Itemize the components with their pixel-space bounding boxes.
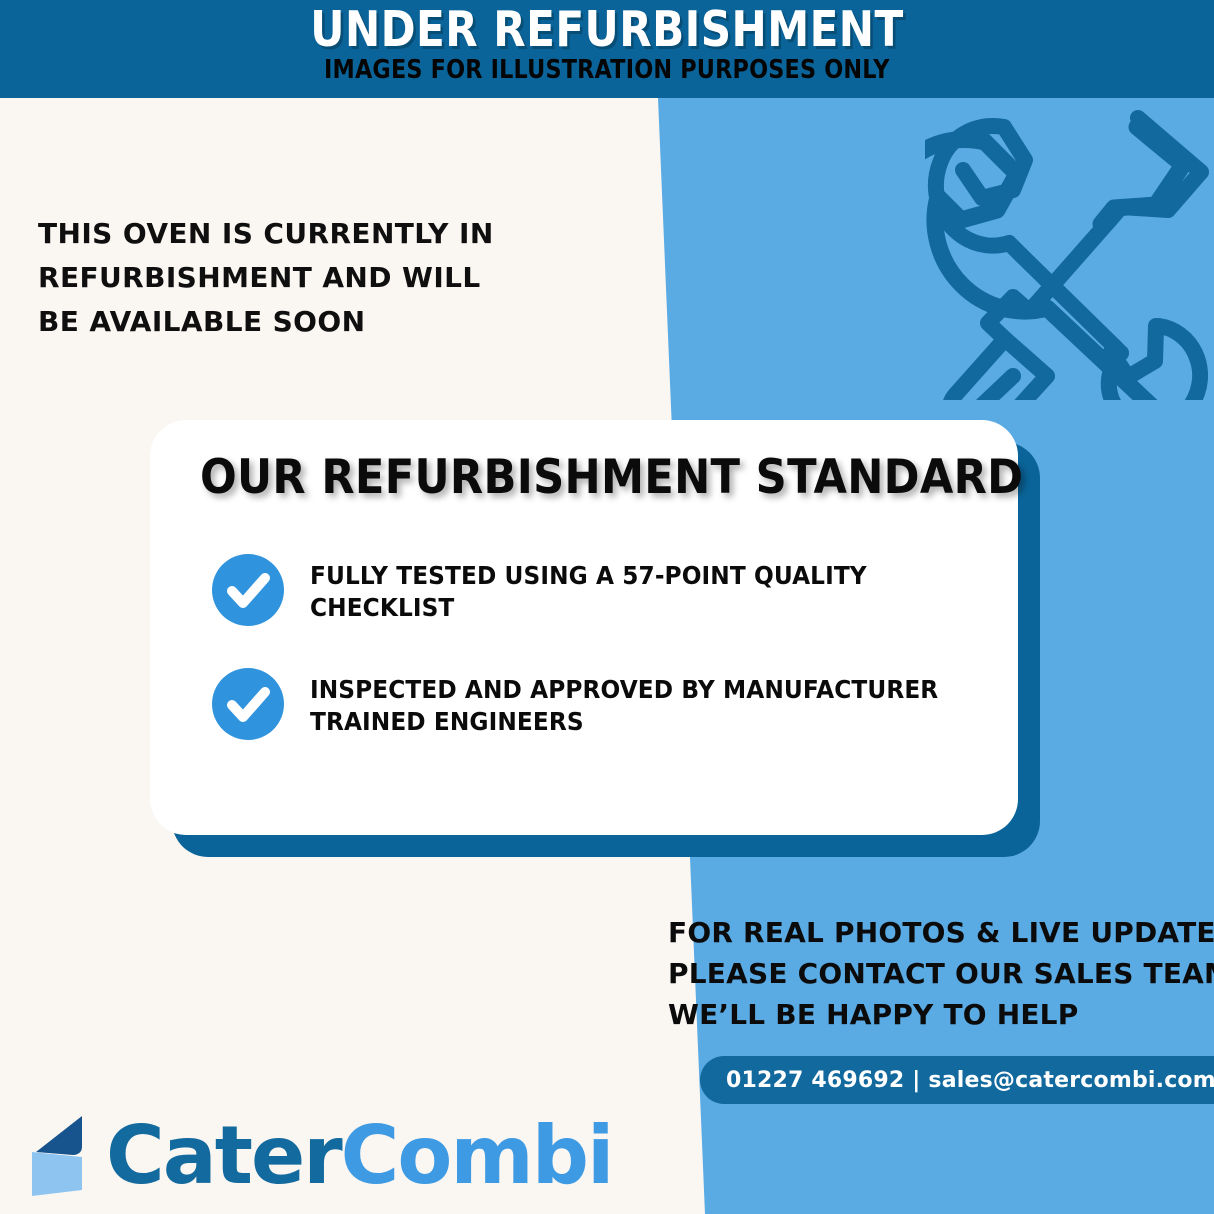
header-title: UNDER REFURBISHMENT — [310, 2, 903, 58]
list-item-line-2: CHECKLIST — [310, 592, 867, 624]
intro-message: THIS OVEN IS CURRENTLY IN REFURBISHMENT … — [38, 212, 508, 344]
header-banner: UNDER REFURBISHMENT IMAGES FOR ILLUSTRAT… — [0, 0, 1214, 98]
logo-word-combi: Combi — [341, 1109, 613, 1202]
check-circle-icon — [212, 668, 284, 740]
card-title: OUR REFURBISHMENT STANDARD — [200, 448, 916, 508]
list-item-label: INSPECTED AND APPROVED BY MANUFACTURER T… — [310, 666, 938, 738]
contact-line-1: FOR REAL PHOTOS & LIVE UPDATES — [668, 912, 1198, 953]
catercombi-logo-text: CaterCombi — [106, 1114, 612, 1198]
list-item-line-1: INSPECTED AND APPROVED BY MANUFACTURER — [310, 674, 938, 706]
logo-word-cater: Cater — [106, 1109, 341, 1202]
list-item-line-1: FULLY TESTED USING A 57-POINT QUALITY — [310, 560, 867, 592]
catercombi-logo: CaterCombi — [20, 1110, 612, 1202]
contact-details-pill[interactable]: 01227 469692 | sales@catercombi.com — [700, 1056, 1214, 1104]
contact-line-3: WE’LL BE HAPPY TO HELP — [668, 994, 1198, 1035]
intro-line-3: BE AVAILABLE SOON — [38, 300, 508, 344]
wrench-screwdriver-icon — [925, 105, 1214, 400]
contact-line-2: PLEASE CONTACT OUR SALES TEAM — [668, 953, 1198, 994]
contact-message: FOR REAL PHOTOS & LIVE UPDATES PLEASE CO… — [668, 912, 1198, 1035]
list-item-line-2: TRAINED ENGINEERS — [310, 706, 938, 738]
intro-line-2: REFURBISHMENT AND WILL — [38, 256, 508, 300]
list-item: FULLY TESTED USING A 57-POINT QUALITY CH… — [212, 552, 978, 626]
list-item: INSPECTED AND APPROVED BY MANUFACTURER T… — [212, 666, 978, 740]
refurbishment-standard-card: OUR REFURBISHMENT STANDARD FULLY TESTED … — [150, 420, 1018, 835]
check-circle-icon — [212, 554, 284, 626]
header-subtitle: IMAGES FOR ILLUSTRATION PURPOSES ONLY — [324, 55, 890, 85]
intro-line-1: THIS OVEN IS CURRENTLY IN — [38, 212, 508, 256]
catercombi-logo-mark — [20, 1110, 98, 1202]
standards-list: FULLY TESTED USING A 57-POINT QUALITY CH… — [212, 552, 978, 740]
list-item-label: FULLY TESTED USING A 57-POINT QUALITY CH… — [310, 552, 867, 624]
poster-root: UNDER REFURBISHMENT IMAGES FOR ILLUSTRAT… — [0, 0, 1214, 1214]
